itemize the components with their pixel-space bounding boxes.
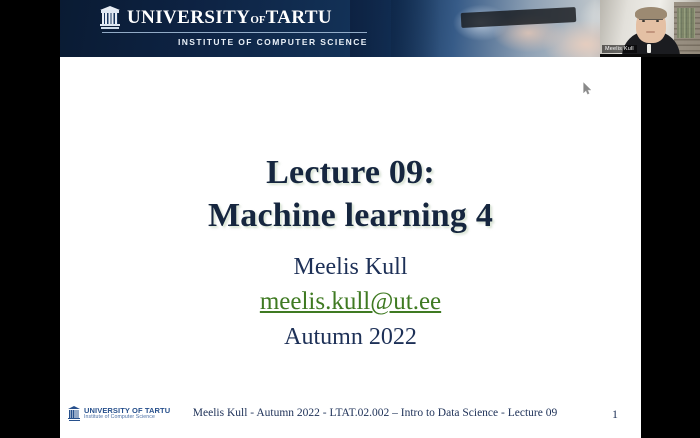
header-divider xyxy=(102,32,367,33)
footer-logo: UNIVERSITY OF TARTU Institute of Compute… xyxy=(68,406,170,421)
slide-email-link[interactable]: meelis.kull@ut.ee xyxy=(260,286,441,318)
slide-header-banner: UNIVERSITYOFTARTU INSTITUTE OF COMPUTER … xyxy=(60,0,641,57)
webcam-person-eye-right xyxy=(656,20,659,22)
footer-course-text: Meelis Kull - Autumn 2022 - LTAT.02.002 … xyxy=(180,407,570,419)
slide-canvas: UNIVERSITYOFTARTU INSTITUTE OF COMPUTER … xyxy=(60,0,641,438)
webcam-overlay[interactable]: Meelis Kull xyxy=(600,0,700,57)
footer-crest-icon xyxy=(68,406,80,421)
footer-logo-line-2: Institute of Computer Science xyxy=(84,415,170,420)
slide-title-line-1: Lecture 09: xyxy=(60,152,641,195)
slide-footer: UNIVERSITY OF TARTU Institute of Compute… xyxy=(60,404,641,430)
footer-page-number: 1 xyxy=(600,407,630,422)
university-word: UNIVERSITY xyxy=(127,7,250,28)
slide-date: Autumn 2022 xyxy=(60,322,641,353)
tartu-word: TARTU xyxy=(266,7,332,28)
letterbox-bar-right xyxy=(641,57,700,438)
banner-gradient-fade xyxy=(350,0,440,57)
slide-author: Meelis Kull xyxy=(60,252,641,283)
letterbox-bar-left xyxy=(0,0,60,438)
presentation-screen: UNIVERSITYOFTARTU INSTITUTE OF COMPUTER … xyxy=(0,0,700,438)
webcam-person-mouth xyxy=(646,31,655,33)
mouse-cursor-icon xyxy=(583,82,592,95)
webcam-bottom-strip xyxy=(600,54,700,57)
webcam-participant-name: Meelis Kull xyxy=(602,45,637,53)
of-word: OF xyxy=(250,14,265,26)
webcam-person-badge xyxy=(647,44,651,53)
slide-title-line-2: Machine learning 4 xyxy=(60,195,641,238)
slide-title-block: Lecture 09: Machine learning 4 Meelis Ku… xyxy=(60,152,641,353)
university-crest-icon xyxy=(100,6,120,29)
webcam-person-eye-left xyxy=(642,20,645,22)
university-logo: UNIVERSITYOFTARTU xyxy=(100,6,332,29)
university-wordmark: UNIVERSITYOFTARTU xyxy=(127,8,332,27)
institute-label: INSTITUTE OF COMPUTER SCIENCE xyxy=(178,37,368,47)
